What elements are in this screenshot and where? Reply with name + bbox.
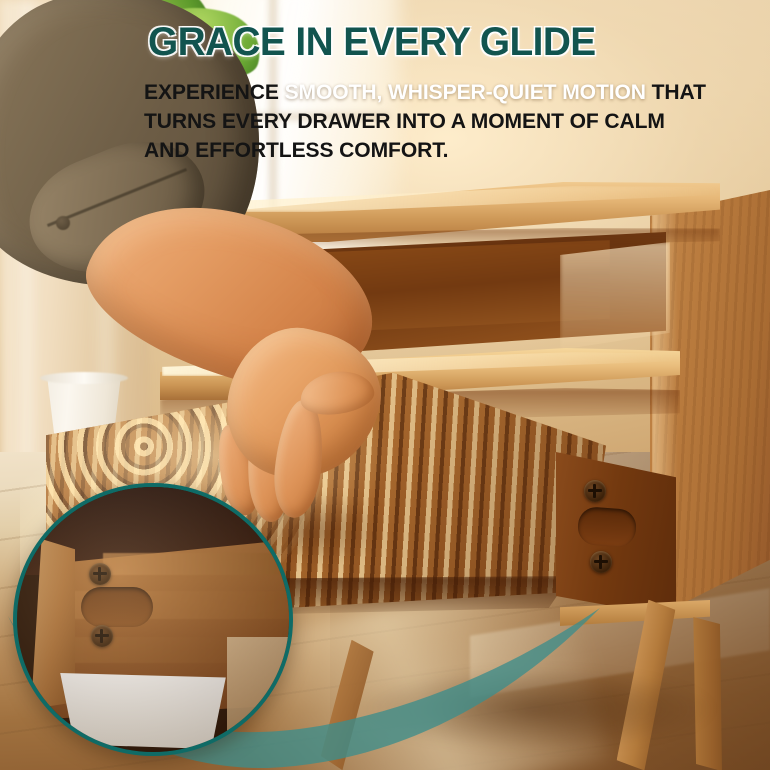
cubby-light-glow: [560, 242, 670, 350]
promo-banner: GRACE IN EVERY GLIDE EXPERIENCE SMOOTH, …: [0, 0, 770, 770]
cuff-button: [56, 216, 70, 230]
subheading-highlight: SMOOTH, WHISPER-QUIET MOTION: [285, 80, 646, 104]
subheading-line-1-part-a: EXPERIENCE: [144, 80, 285, 104]
page-title: GRACE IN EVERY GLIDE: [148, 20, 740, 64]
detail-callout-circle[interactable]: [13, 483, 293, 756]
screw-icon: [584, 480, 606, 502]
drawer-side-notch: [577, 506, 638, 548]
subheading-line-3: AND EFFORTLESS COMFORT.: [144, 136, 732, 165]
subheading-line-1: EXPERIENCE SMOOTH, WHISPER-QUIET MOTION …: [144, 78, 732, 107]
subheading-line-1-part-c: THAT: [646, 80, 706, 104]
subheading-line-2: TURNS EVERY DRAWER INTO A MOMENT OF CALM: [144, 107, 732, 136]
subheading: EXPERIENCE SMOOTH, WHISPER-QUIET MOTION …: [144, 78, 732, 165]
inset-vignette: [17, 487, 289, 752]
